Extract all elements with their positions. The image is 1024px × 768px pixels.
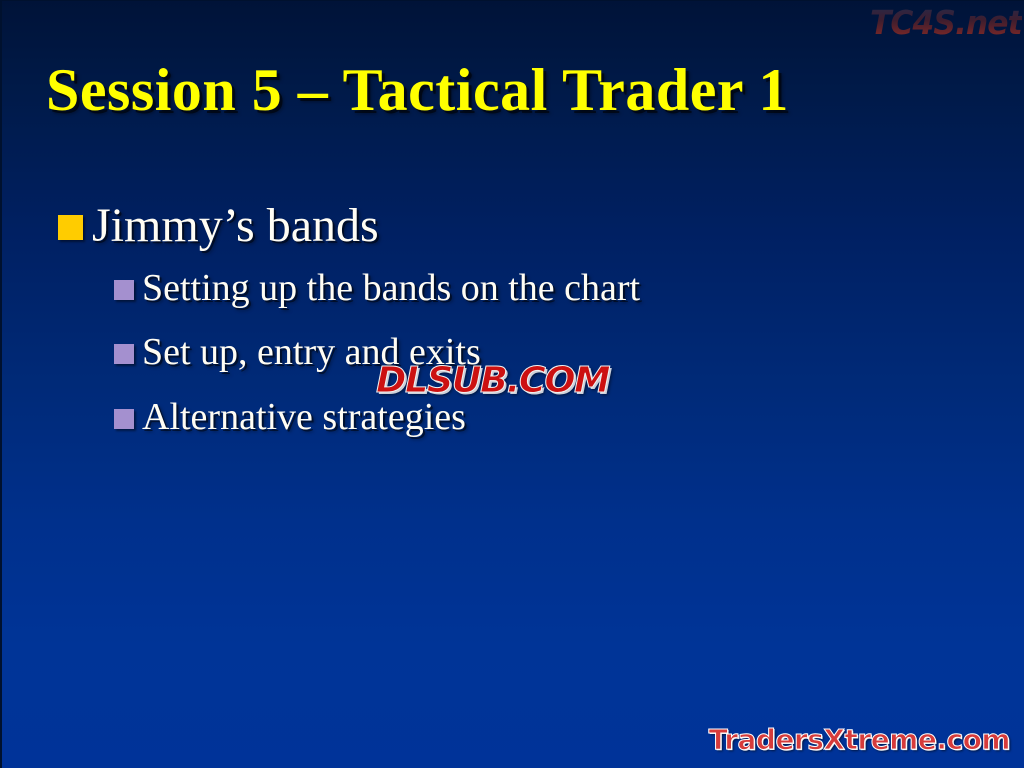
watermark-tradersxtreme: TradersXtreme.com — [709, 723, 1010, 756]
slide-title: Session 5 – Tactical Trader 1 — [46, 59, 996, 122]
watermark-tc4s: TC4S.net — [870, 3, 1022, 42]
presentation-slide: Session 5 – Tactical Trader 1 Jimmy’s ba… — [0, 0, 1024, 768]
square-bullet-icon — [114, 280, 134, 300]
watermark-dlsub: DLSUB.COM — [376, 360, 609, 401]
bullet-label: Setting up the bands on the chart — [142, 266, 640, 312]
bullet-label: Jimmy’s bands — [92, 197, 379, 256]
bullet-item-level1: Jimmy’s bands — [58, 197, 988, 256]
bullet-label: Alternative strategies — [142, 395, 466, 441]
square-bullet-icon — [114, 409, 134, 429]
square-bullet-icon — [58, 215, 83, 240]
bullet-item-level2: Setting up the bands on the chart — [114, 266, 988, 312]
bullet-item-level2: Alternative strategies — [114, 395, 988, 441]
square-bullet-icon — [114, 344, 134, 364]
slide-body-bullet-list: Jimmy’s bands Setting up the bands on th… — [58, 197, 988, 459]
